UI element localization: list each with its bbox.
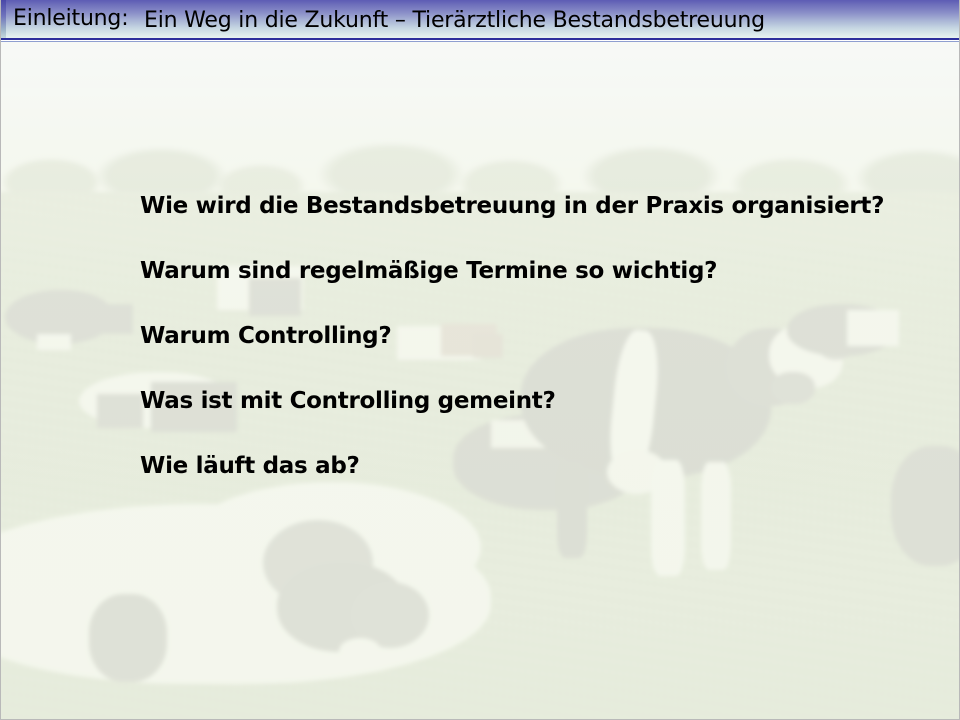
slide-section-kicker: Einleitung:	[13, 5, 128, 33]
presentation-slide: Einleitung: Ein Weg in die Zukunft – Tie…	[0, 0, 960, 720]
slide-title-bar: Einleitung: Ein Weg in die Zukunft – Tie…	[1, 0, 960, 40]
bullet-line-1: Wie wird die Bestandsbetreuung in der Pr…	[140, 193, 884, 219]
title-bar-divider	[1, 38, 960, 40]
bullet-line-4: Was ist mit Controlling gemeint?	[140, 388, 556, 414]
slide-title: Ein Weg in die Zukunft – Tierärztliche B…	[144, 7, 765, 35]
title-bar-left-accent	[1, 0, 6, 40]
bullet-line-5: Wie läuft das ab?	[140, 453, 360, 479]
bullet-line-3: Warum Controlling?	[140, 323, 391, 349]
slide-body: Wie wird die Bestandsbetreuung in der Pr…	[1, 42, 960, 719]
bullet-line-2: Warum sind regelmäßige Termine so wichti…	[140, 258, 717, 284]
